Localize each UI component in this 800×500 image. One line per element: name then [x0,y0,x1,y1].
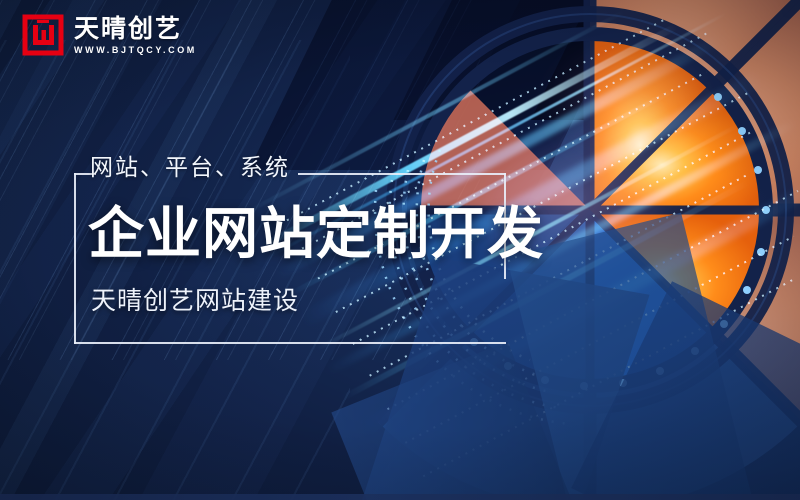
violet-haze-overlay-2 [520,30,740,180]
logo-mark-icon [22,14,64,56]
banner-headline: 企业网站定制开发 [88,206,544,265]
banner-subtitle: 网站、平台、系统 [90,157,290,180]
logo-website-url: WWW.BJTQCY.COM [74,46,197,55]
frame-line-top-right [298,173,506,175]
logo-company-name: 天晴创艺 [74,16,197,41]
frame-line-left [74,173,76,344]
logo-text-block: 天晴创艺 WWW.BJTQCY.COM [74,16,197,55]
promo-banner: 天晴创艺 WWW.BJTQCY.COM 网站、平台、系统 企业网站定制开发 天晴… [0,0,800,500]
headline-content-block: 网站、平台、系统 企业网站定制开发 天晴创艺网站建设 [0,0,540,500]
brand-logo[interactable]: 天晴创艺 WWW.BJTQCY.COM [22,14,197,56]
frame-line-bottom [74,342,506,344]
banner-tagline: 天晴创艺网站建设 [91,288,299,313]
